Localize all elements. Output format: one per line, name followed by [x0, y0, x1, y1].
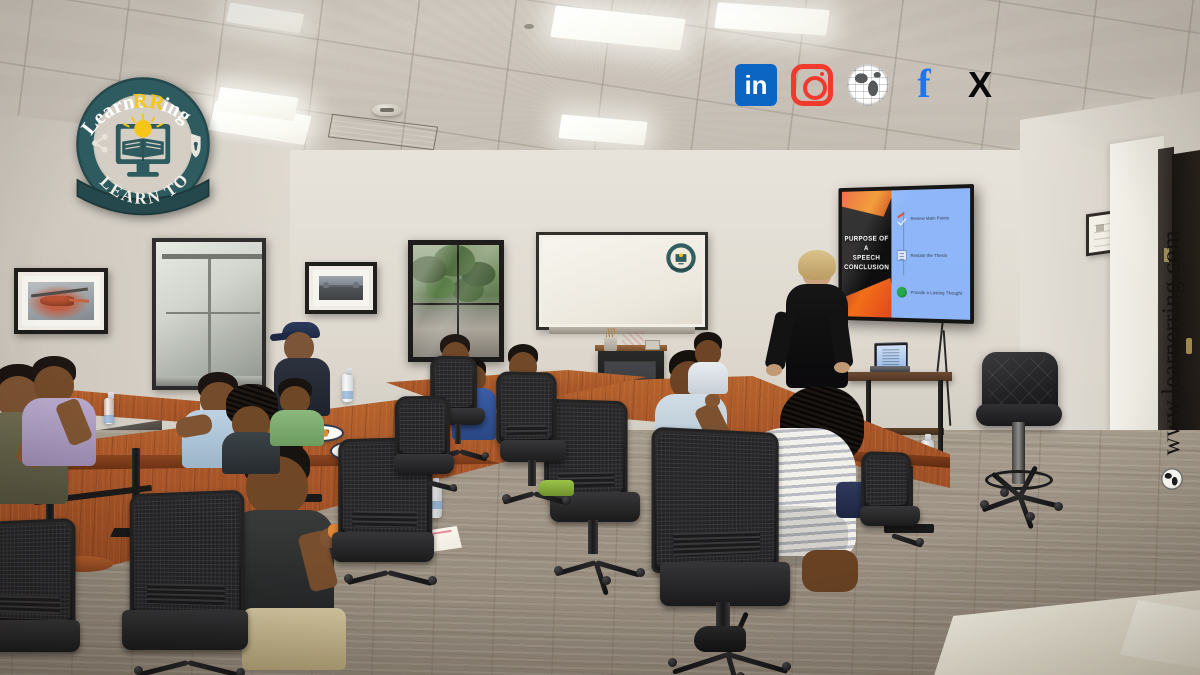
office-chair[interactable] — [394, 396, 474, 508]
presentation-slide: PURPOSE OF A SPEECH CONCLUSION Review Ma… — [842, 188, 970, 320]
slide-bullet-text: Restate the Thesis — [911, 253, 948, 258]
helicopter-photo — [14, 268, 108, 334]
linkedin-label: in — [744, 72, 767, 98]
instagram-icon[interactable] — [791, 64, 833, 106]
presenter-desk — [848, 372, 952, 381]
ceiling-speaker — [524, 24, 534, 29]
water-bottle — [104, 398, 114, 424]
presenter-hand-left — [766, 364, 782, 376]
attendee-green-shirt — [270, 378, 324, 444]
smoke-detector-icon — [372, 104, 402, 116]
window-pane-divider — [208, 259, 211, 379]
green-dot-icon — [897, 286, 907, 297]
linkedin-icon[interactable]: in — [735, 64, 777, 106]
leg — [802, 550, 858, 592]
website-url-vertical[interactable]: www.learnerring.com — [1152, 178, 1192, 508]
window-pane-divider — [166, 312, 260, 314]
facebook-icon[interactable]: f — [903, 64, 945, 106]
slide-bullets-panel: Review Main Points Restate the Thesis Pr… — [891, 188, 970, 320]
supply-box — [645, 340, 660, 350]
draft-stool-base — [976, 484, 1064, 510]
tissue-box — [622, 332, 644, 349]
office-chair[interactable] — [118, 492, 268, 675]
whiteboard — [536, 232, 708, 330]
slide-bullet: Provide a Lasting Thought — [897, 286, 965, 298]
laptop-screen[interactable] — [874, 342, 908, 368]
pens — [606, 328, 615, 337]
shoe — [538, 480, 574, 496]
shoe — [694, 626, 746, 652]
x-twitter-icon[interactable]: X — [959, 64, 1001, 106]
document-icon — [897, 250, 907, 261]
osprey-photo — [305, 262, 377, 314]
slide-bullet: Review Main Points — [897, 212, 965, 224]
torso — [688, 362, 728, 394]
interior-window — [152, 238, 266, 390]
globe-icon — [1161, 468, 1183, 490]
window-rail — [162, 254, 262, 259]
x-label: X — [968, 64, 992, 105]
water-bottle — [342, 374, 353, 402]
wall-display-tv[interactable]: PURPOSE OF A SPEECH CONCLUSION Review Ma… — [838, 184, 974, 324]
learnerring-logo: Learne RR ing LEARN TO LEAD — [62, 68, 224, 228]
attendee-back-right — [688, 332, 728, 392]
presenter-hand-right — [834, 362, 850, 373]
attendee-purple-shirt — [22, 356, 96, 466]
slide-bullet-text: Provide a Lasting Thought — [911, 289, 963, 295]
office-chair[interactable] — [0, 520, 100, 675]
office-chair[interactable] — [860, 452, 940, 582]
globe-icon[interactable] — [847, 64, 889, 106]
pen-cup — [604, 336, 617, 351]
desk-leg — [938, 380, 943, 452]
presenter-hair — [798, 250, 836, 280]
website-url-text: www.learnerring.com — [1158, 230, 1186, 455]
hand — [705, 394, 720, 407]
laptop-keyboard[interactable] — [870, 366, 910, 372]
slide-bullet-text: Review Main Points — [911, 215, 950, 221]
whiteboard-logo — [665, 242, 697, 274]
classroom-photo-scene: PURPOSE OF A SPEECH CONCLUSION Review Ma… — [0, 0, 1200, 675]
facebook-label: f — [917, 61, 930, 106]
check-icon — [897, 213, 907, 224]
torso — [270, 410, 324, 446]
slide-bullet: Restate the Thesis — [897, 250, 965, 261]
social-icon-bar[interactable]: in f X — [735, 60, 1001, 110]
